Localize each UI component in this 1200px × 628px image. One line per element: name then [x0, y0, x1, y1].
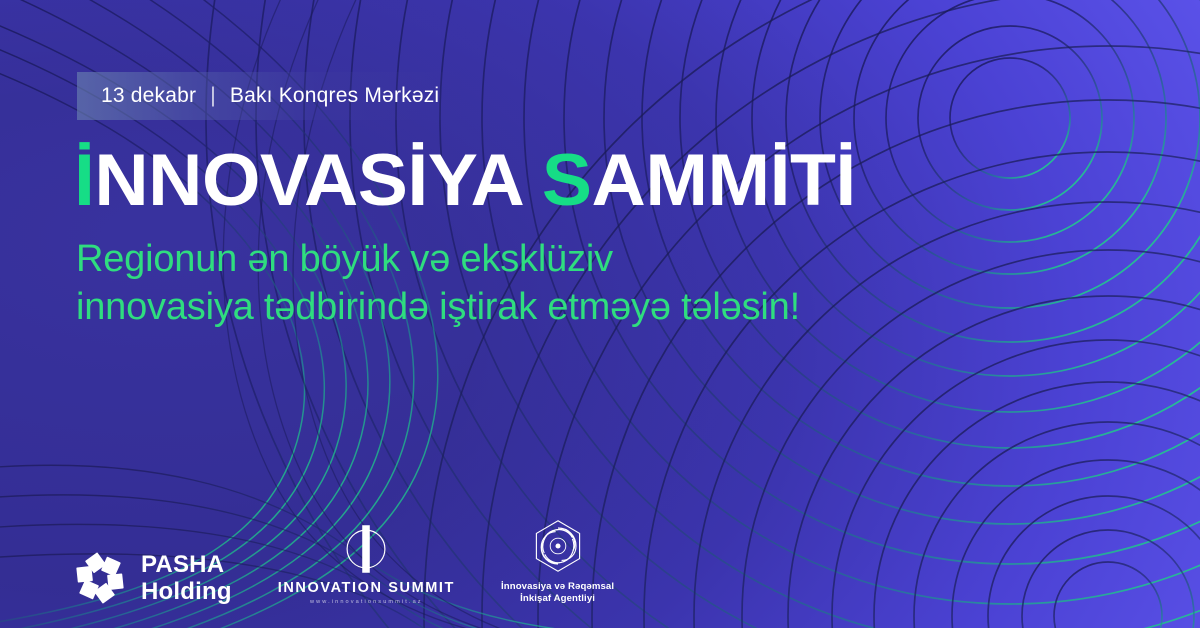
idda-name: İnnovasiya və Rəqəmsal İnkişaf Agentliyi	[501, 581, 614, 606]
logo-innovation-summit: INNOVATION SUMMIT www.innovationsummit.a…	[278, 522, 455, 606]
innovation-summit-url: www.innovationsummit.az	[310, 600, 423, 606]
title-part-5: AMMİTİ	[592, 140, 856, 221]
logo-pasha-holding: PASHA Holding	[72, 550, 232, 606]
pasha-wordmark: PASHA Holding	[141, 551, 232, 606]
event-promo-banner: 13 dekabr | Bakı Konqres Mərkəzi İNNOVAS…	[0, 0, 1200, 628]
event-date: 13 dekabr	[101, 84, 196, 108]
event-venue: Bakı Konqres Mərkəzi	[230, 84, 439, 108]
innovation-summit-wordmark: INNOVATION SUMMIT	[278, 581, 455, 596]
logo-idda: İnnovasiya və Rəqəmsal İnkişaf Agentliyi	[501, 516, 614, 606]
idda-hexagon-aperture-icon	[528, 516, 588, 576]
sponsor-logo-strip: PASHA Holding INNOVATION SUMMIT www.inno…	[72, 516, 614, 606]
page-title: İNNOVASİYA SAMMİTİ	[74, 144, 856, 217]
badge-separator: |	[210, 84, 216, 108]
pasha-line-1: PASHA	[141, 551, 232, 578]
title-part-0: İ	[74, 140, 94, 221]
event-date-venue-badge: 13 dekabr | Bakı Konqres Mərkəzi	[77, 72, 461, 120]
title-part-2: İ	[407, 140, 427, 221]
title-part-4: S	[542, 140, 592, 221]
title-part-3: YA	[428, 140, 542, 221]
pasha-pinwheel-icon	[72, 550, 128, 606]
pasha-line-2: Holding	[141, 578, 232, 605]
title-part-1: NNOVAS	[94, 140, 407, 221]
innovation-summit-circle-icon	[339, 522, 393, 576]
subtitle: Regionun ən böyük və eksklüziv innovasiy…	[76, 236, 800, 332]
